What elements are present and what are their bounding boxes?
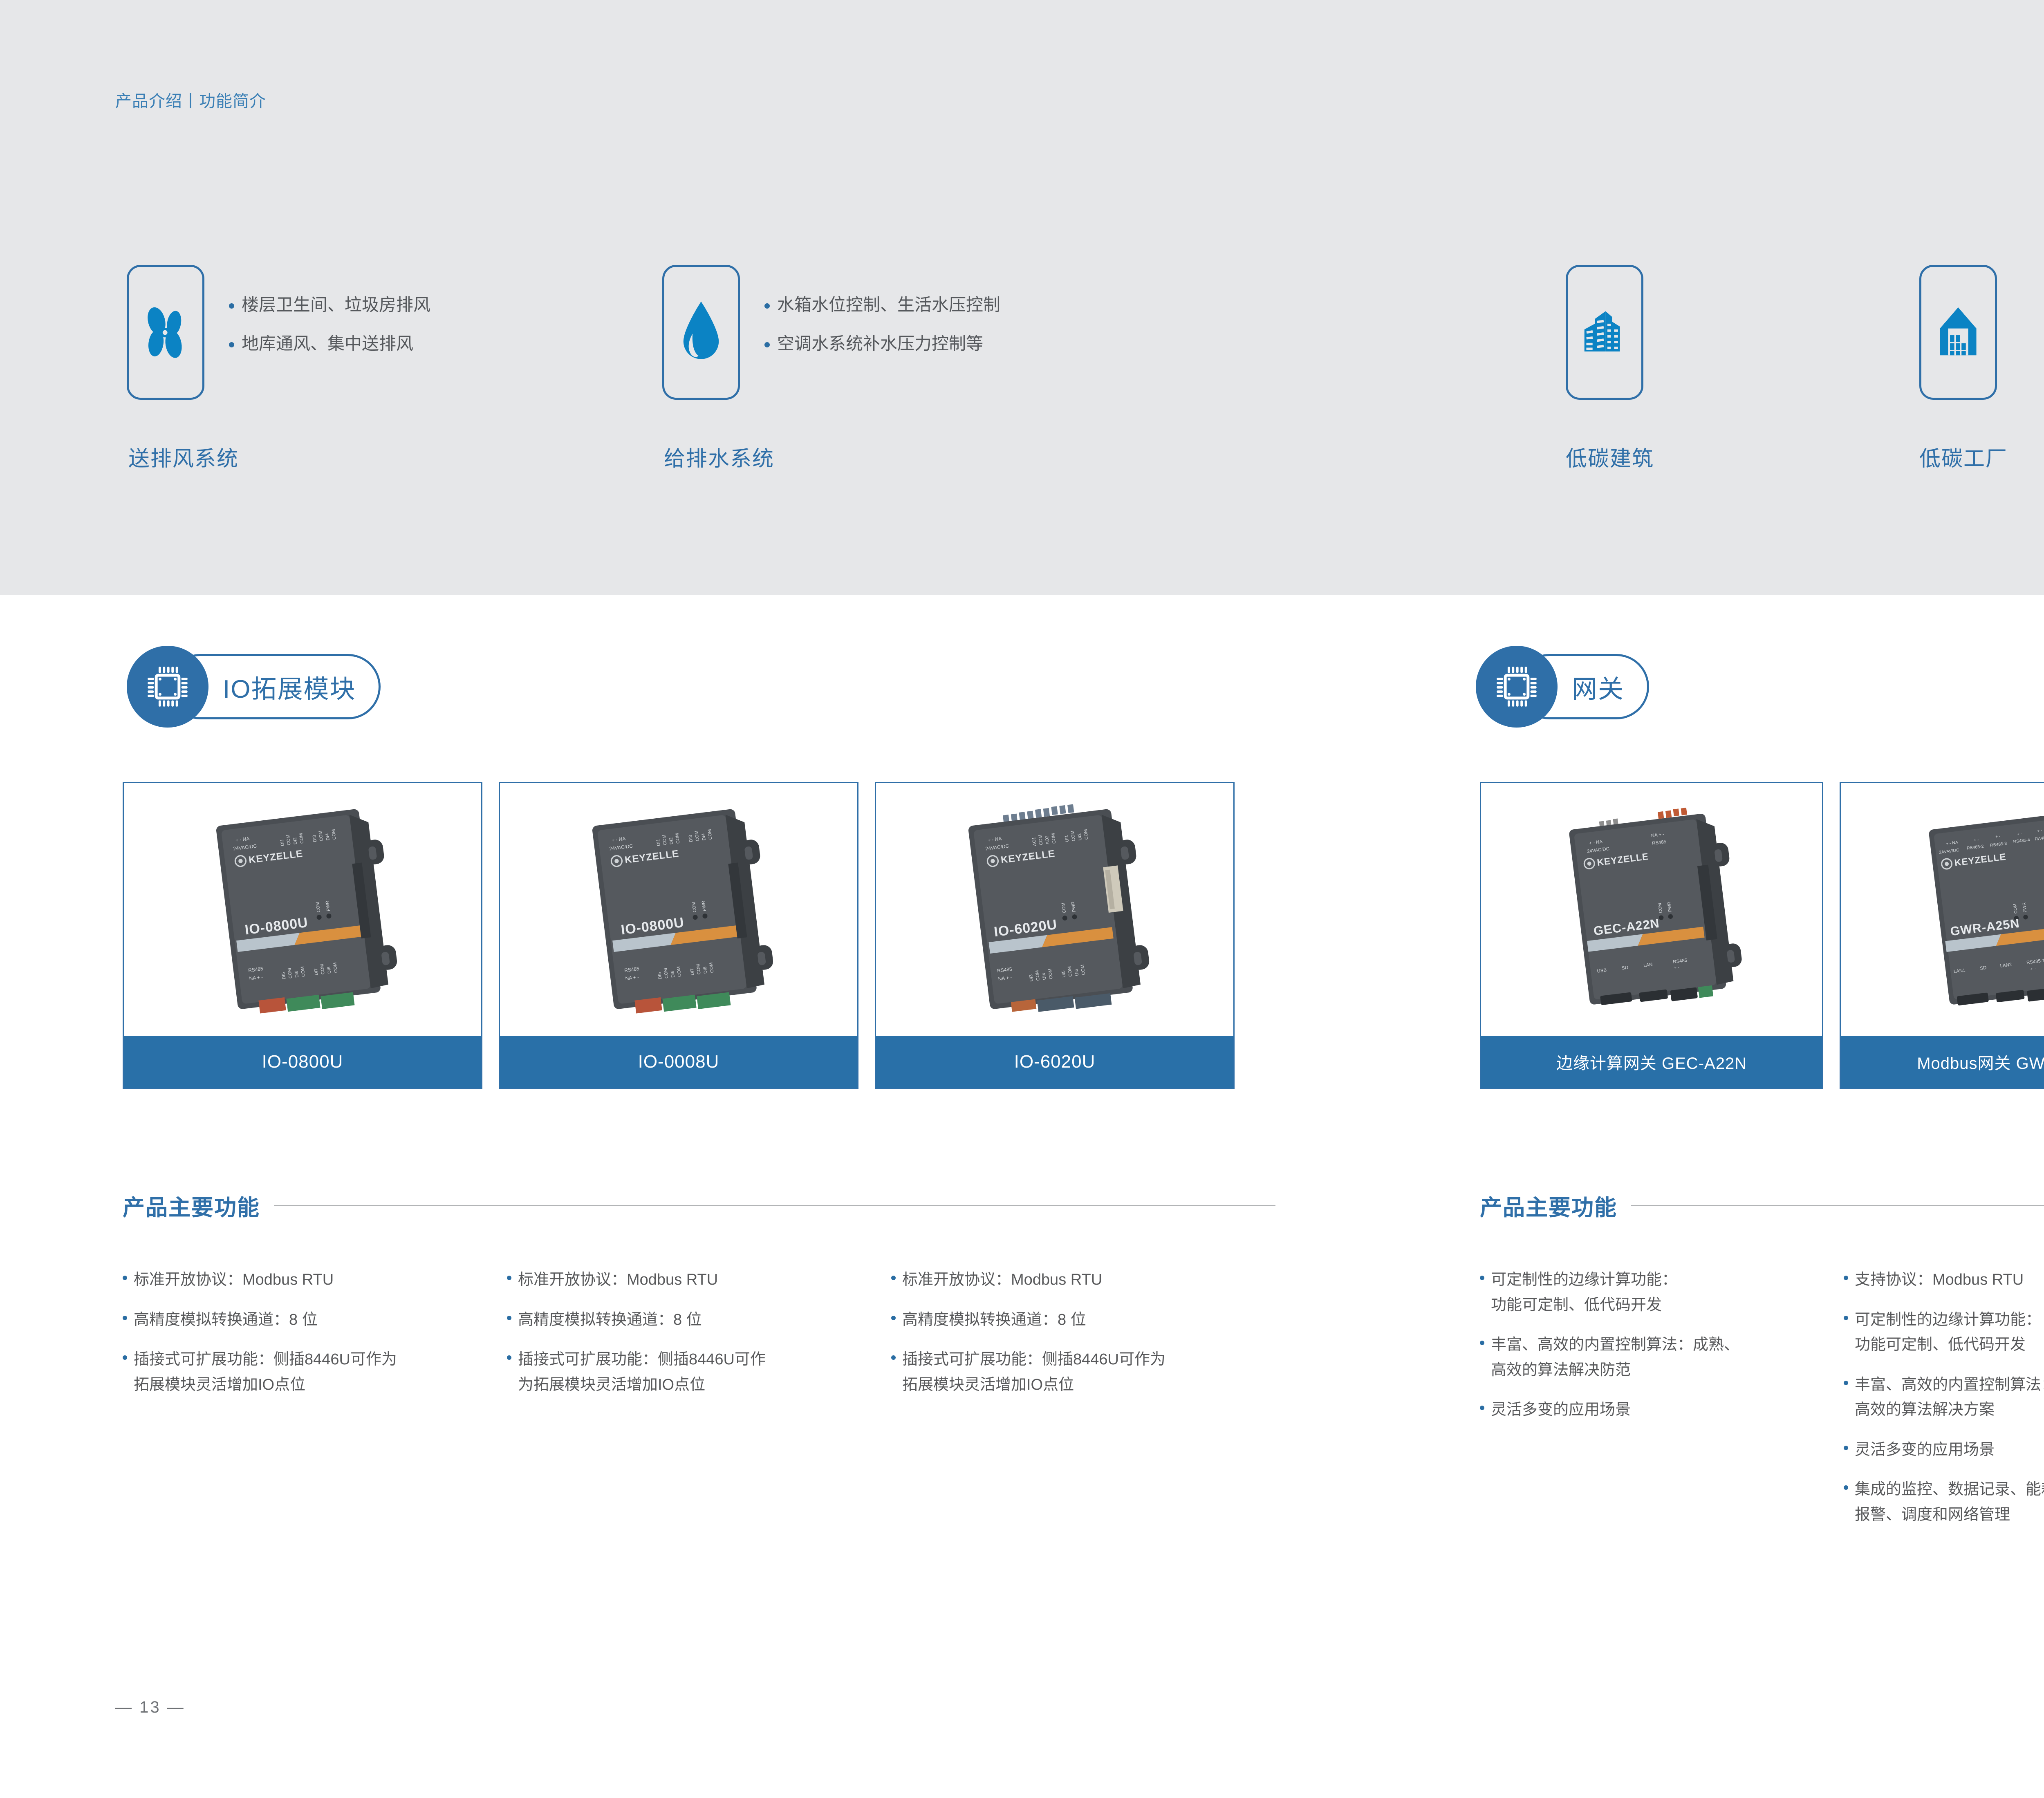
bullet-text: 插接式可扩展功能：侧插8446U可作为 拓展模块灵活增加IO点位	[134, 1347, 397, 1397]
bullet-dot	[507, 1355, 511, 1360]
bullet-text: 插接式可扩展功能：侧插8446U可作 为拓展模块灵活增加IO点位	[518, 1347, 766, 1397]
list-item: 水箱水位控制、生活水压控制	[764, 294, 1000, 316]
svg-text:DI5: DI5	[657, 972, 663, 979]
product-card[interactable]: + - NA 24VAC/DC NA + - RS485 KEYZELLE CO…	[1480, 782, 1823, 1089]
list-item: 丰富、高效的内置控制算法：成熟、 高效的算法解决方案	[1844, 1373, 2044, 1423]
svg-text:+ -: + -	[1674, 965, 1680, 971]
bullet-text: 标准开放协议：Modbus RTU	[902, 1267, 1102, 1293]
svg-text:+ -: + -	[1973, 837, 1979, 843]
scene-icon-frame	[127, 265, 204, 400]
svg-text:SD: SD	[1980, 965, 1987, 971]
svg-text:DI2: DI2	[292, 837, 298, 844]
device-io-0800u-illustration: + - NA 24VAC/DC DI1 COM DI2 COM DI3 COM …	[168, 795, 437, 1024]
device-io-6020u-illustration: + - NA 24VAC/DC AO1 COM AO2 COM UI1 COM …	[920, 795, 1190, 1024]
section-title-label: 网关	[1572, 668, 1624, 705]
bullet-text: 灵活多变的应用场景	[1855, 1438, 1995, 1463]
device-io-0008u-illustration: + - NA 24VAC/DC DI1 COM DI2 COM DI3 COM …	[544, 795, 814, 1024]
bullet-dot	[507, 1316, 511, 1320]
bullet-text: 水箱水位控制、生活水压控制	[777, 294, 1000, 316]
fan-icon	[139, 302, 192, 363]
svg-text:DI1: DI1	[280, 839, 285, 846]
office-building-icon	[1580, 305, 1629, 360]
product-image: + - NA 24VAC/DC DI1 COM DI2 COM DI3 COM …	[124, 783, 481, 1036]
bullet-dot	[891, 1316, 896, 1320]
scene-icon-frame	[1566, 265, 1643, 400]
bullet-text: 高精度模拟转换通道：8 位	[134, 1308, 318, 1333]
bullet-dot	[123, 1276, 127, 1280]
list-item: 集成的监控、数据记录、能耗计量、 报警、调度和网络管理	[1844, 1477, 2044, 1527]
scene-icon-frame	[1919, 265, 1997, 400]
features-heading: 产品主要功能	[1480, 1189, 2044, 1222]
list-item: 楼层卫生间、垃圾房排风	[229, 294, 430, 316]
svg-text:UI3: UI3	[1029, 974, 1034, 981]
bullet-text: 可定制性的边缘计算功能： 功能可定制、低代码开发	[1855, 1308, 2041, 1358]
svg-text:DI3: DI3	[688, 835, 694, 842]
svg-text:DI2: DI2	[668, 837, 674, 844]
bullet-dot	[1844, 1446, 1848, 1450]
list-item: 空调水系统补水压力控制等	[764, 333, 1000, 355]
list-item: 标准开放协议：Modbus RTU	[891, 1267, 1275, 1293]
bullet-text: 标准开放协议：Modbus RTU	[518, 1267, 718, 1293]
chip-icon	[144, 663, 191, 710]
bullet-dot	[229, 342, 234, 347]
features-column: 标准开放协议：Modbus RTU 高精度模拟转换通道：8 位 插接式可扩展功能…	[507, 1267, 891, 1412]
scene-bullets: 楼层卫生间、垃圾房排风 地库通风、集中送排风	[229, 294, 430, 372]
features-column: 可定制性的边缘计算功能： 功能可定制、低代码开发 丰富、高效的内置控制算法：成熟…	[1480, 1267, 1844, 1542]
list-item: 地库通风、集中送排风	[229, 333, 430, 355]
svg-text:DI6: DI6	[294, 970, 300, 978]
product-image: + - NA 24VAC/DC AO1 COM AO2 COM UI1 COM …	[876, 783, 1233, 1036]
svg-text:UI4: UI4	[1042, 973, 1047, 980]
svg-text:DI8: DI8	[327, 966, 332, 974]
svg-text:+ -: + -	[1995, 834, 2001, 840]
running-header-left: 产品介绍丨功能简介	[115, 88, 266, 112]
scene-block-ventilation: 楼层卫生间、垃圾房排风 地库通风、集中送排风 送排风系统	[127, 265, 617, 477]
list-item: 插接式可扩展功能：侧插8446U可作为 拓展模块灵活增加IO点位	[123, 1347, 507, 1397]
bullet-text: 地库通风、集中送排风	[242, 333, 413, 355]
svg-text:DI4: DI4	[325, 833, 331, 840]
bullet-dot	[764, 303, 770, 309]
product-card[interactable]: + - NA + - + - + - + - 2AVAV/DC RS485-2 …	[1840, 782, 2044, 1089]
svg-text:DI1: DI1	[656, 839, 661, 846]
scene-block-low-carbon-building: 低碳建筑	[1566, 265, 1643, 477]
heading-rule	[274, 1205, 1275, 1206]
list-item: 标准开放协议：Modbus RTU	[507, 1267, 891, 1293]
heading-rule	[1631, 1205, 2044, 1206]
bullet-dot	[1844, 1316, 1848, 1320]
list-item: 丰富、高效的内置控制算法：成熟、 高效的算法解决防范	[1480, 1332, 1844, 1383]
list-item: 插接式可扩展功能：侧插8446U可作 为拓展模块灵活增加IO点位	[507, 1347, 891, 1397]
list-item: 可定制性的边缘计算功能： 功能可定制、低代码开发	[1844, 1308, 2044, 1358]
list-item: 高精度模拟转换通道：8 位	[507, 1308, 891, 1333]
scene-block-low-carbon-factory: 低碳工厂	[1919, 265, 1997, 477]
bullet-dot	[507, 1276, 511, 1280]
water-drop-icon	[678, 300, 724, 365]
product-name-bar: IO-0800U	[124, 1036, 481, 1088]
features-title: 产品主要功能	[1480, 1189, 1617, 1222]
bullet-dot	[229, 303, 234, 309]
bullet-dot	[123, 1316, 127, 1320]
features-column: 支持协议：Modbus RTU 可定制性的边缘计算功能： 功能可定制、低代码开发…	[1844, 1267, 2044, 1542]
list-item: 高精度模拟转换通道：8 位	[123, 1308, 507, 1333]
page-number-left: — 13 —	[115, 1698, 185, 1717]
product-card-row-io: + - NA 24VAC/DC DI1 COM DI2 COM DI3 COM …	[123, 782, 1235, 1089]
svg-text:DI8: DI8	[703, 966, 708, 974]
features-block-gateway: 产品主要功能 可定制性的边缘计算功能： 功能可定制、低代码开发 丰富、高效的内置…	[1480, 1189, 2044, 1542]
bullet-text: 楼层卫生间、垃圾房排风	[242, 294, 430, 316]
device-gec-a22n-illustration: + - NA 24VAC/DC NA + - RS485 KEYZELLE CO…	[1523, 795, 1780, 1024]
product-name-bar: IO-0008U	[500, 1036, 857, 1088]
bullet-dot	[123, 1355, 127, 1360]
scene-label-low-carbon-building: 低碳建筑	[1566, 441, 1643, 472]
features-column: 标准开放协议：Modbus RTU 高精度模拟转换通道：8 位 插接式可扩展功能…	[891, 1267, 1275, 1412]
product-image: + - NA + - + - + - + - 2AVAV/DC RS485-2 …	[1841, 783, 2044, 1036]
bullet-text: 高精度模拟转换通道：8 位	[518, 1308, 702, 1333]
section-title-io-module: IO拓展模块	[127, 646, 454, 728]
bullet-dot	[764, 342, 770, 347]
product-image: + - NA 24VAC/DC NA + - RS485 KEYZELLE CO…	[1481, 783, 1822, 1036]
bullet-text: 可定制性的边缘计算功能： 功能可定制、低代码开发	[1491, 1267, 1677, 1318]
bullet-dot	[1844, 1381, 1848, 1385]
product-card[interactable]: + - NA 24VAC/DC AO1 COM AO2 COM UI1 COM …	[875, 782, 1235, 1089]
features-heading: 产品主要功能	[123, 1189, 1275, 1222]
list-item: 插接式可扩展功能：侧插8446U可作为 拓展模块灵活增加IO点位	[891, 1347, 1275, 1397]
svg-text:+ -: + -	[2030, 966, 2036, 972]
bullet-text: 灵活多变的应用场景	[1491, 1397, 1631, 1423]
product-card[interactable]: + - NA 24VAC/DC DI1 COM DI2 COM DI3 COM …	[499, 782, 858, 1089]
brochure-spread: 产品介绍丨功能简介 产品介绍丨功能简介 楼层卫生间、垃圾房排风	[0, 0, 2044, 1798]
features-title: 产品主要功能	[123, 1189, 260, 1222]
svg-text:+ -: + -	[2017, 831, 2022, 837]
product-name-bar: 边缘计算网关 GEC-A22N	[1481, 1036, 1822, 1088]
svg-text:AO1: AO1	[1031, 837, 1038, 846]
list-item: 支持协议：Modbus RTU	[1844, 1267, 2044, 1293]
bullet-text: 集成的监控、数据记录、能耗计量、 报警、调度和网络管理	[1855, 1477, 2044, 1527]
svg-text:UI2: UI2	[1077, 833, 1083, 840]
bullet-text: 丰富、高效的内置控制算法：成熟、 高效的算法解决防范	[1491, 1332, 1739, 1383]
bullet-dot	[1480, 1341, 1484, 1345]
bullet-text: 插接式可扩展功能：侧插8446U可作为 拓展模块灵活增加IO点位	[902, 1347, 1165, 1397]
svg-text:DI4: DI4	[701, 833, 707, 840]
features-columns: 标准开放协议：Modbus RTU 高精度模拟转换通道：8 位 插接式可扩展功能…	[123, 1267, 1275, 1412]
svg-text:DI7: DI7	[690, 968, 695, 975]
product-image: + - NA 24VAC/DC DI1 COM DI2 COM DI3 COM …	[500, 783, 857, 1036]
svg-text:DI7: DI7	[314, 968, 319, 975]
bullet-dot	[1844, 1485, 1848, 1490]
svg-text:UI5: UI5	[1061, 970, 1067, 978]
scene-label-ventilation: 送排风系统	[128, 441, 239, 472]
factory-icon	[1936, 305, 1981, 360]
bullet-dot	[1480, 1276, 1484, 1280]
list-item: 可定制性的边缘计算功能： 功能可定制、低代码开发	[1480, 1267, 1844, 1318]
bullet-text: 空调水系统补水压力控制等	[777, 333, 983, 355]
svg-text:+ -: + -	[2037, 828, 2042, 834]
product-card[interactable]: + - NA 24VAC/DC DI1 COM DI2 COM DI3 COM …	[123, 782, 482, 1089]
svg-text:AO2: AO2	[1044, 835, 1051, 844]
bullet-dot	[891, 1355, 896, 1360]
features-column: 标准开放协议：Modbus RTU 高精度模拟转换通道：8 位 插接式可扩展功能…	[123, 1267, 507, 1412]
section-title-label: IO拓展模块	[223, 668, 356, 705]
svg-text:UI6: UI6	[1074, 969, 1080, 976]
device-gwr-a25n-illustration: + - NA + - + - + - + - 2AVAV/DC RS485-2 …	[1883, 795, 2044, 1024]
chip-icon-badge	[1476, 646, 1558, 728]
svg-text:SD: SD	[1622, 965, 1629, 971]
bullet-dot	[1844, 1276, 1848, 1280]
bullet-text: 支持协议：Modbus RTU	[1855, 1267, 2024, 1293]
bullet-dot	[891, 1276, 896, 1280]
features-columns: 可定制性的边缘计算功能： 功能可定制、低代码开发 丰富、高效的内置控制算法：成熟…	[1480, 1267, 2044, 1542]
scene-label-plumbing: 给排水系统	[664, 441, 774, 472]
list-item: 高精度模拟转换通道：8 位	[891, 1308, 1275, 1333]
scene-bullets: 水箱水位控制、生活水压控制 空调水系统补水压力控制等	[764, 294, 1000, 372]
product-name-bar: Modbus网关 GWR-A25N	[1841, 1036, 2044, 1088]
product-name-bar: IO-6020U	[876, 1036, 1233, 1088]
list-item: 标准开放协议：Modbus RTU	[123, 1267, 507, 1293]
list-item: 灵活多变的应用场景	[1480, 1397, 1844, 1423]
bullet-text: 高精度模拟转换通道：8 位	[902, 1308, 1086, 1333]
svg-text:UI1: UI1	[1064, 835, 1070, 842]
scene-block-plumbing: 水箱水位控制、生活水压控制 空调水系统补水压力控制等 给排水系统	[662, 265, 1194, 477]
scene-icon-frame	[662, 265, 740, 400]
section-title-gateway: 网关	[1476, 646, 1729, 728]
bullet-text: 丰富、高效的内置控制算法：成熟、 高效的算法解决方案	[1855, 1373, 2044, 1423]
bullet-dot	[1480, 1406, 1484, 1410]
svg-text:DI6: DI6	[670, 970, 676, 978]
chip-icon	[1493, 663, 1540, 710]
svg-text:DI5: DI5	[281, 972, 287, 979]
product-card-row-gateway: + - NA 24VAC/DC NA + - RS485 KEYZELLE CO…	[1480, 782, 2044, 1089]
list-item: 灵活多变的应用场景	[1844, 1438, 2044, 1463]
scene-label-low-carbon-factory: 低碳工厂	[1919, 441, 1997, 472]
chip-icon-badge	[127, 646, 208, 728]
svg-text:DI3: DI3	[312, 835, 318, 842]
bullet-text: 标准开放协议：Modbus RTU	[134, 1267, 334, 1293]
features-block-io: 产品主要功能 标准开放协议：Modbus RTU 高精度模拟转换通道：8 位 插…	[123, 1189, 1275, 1412]
